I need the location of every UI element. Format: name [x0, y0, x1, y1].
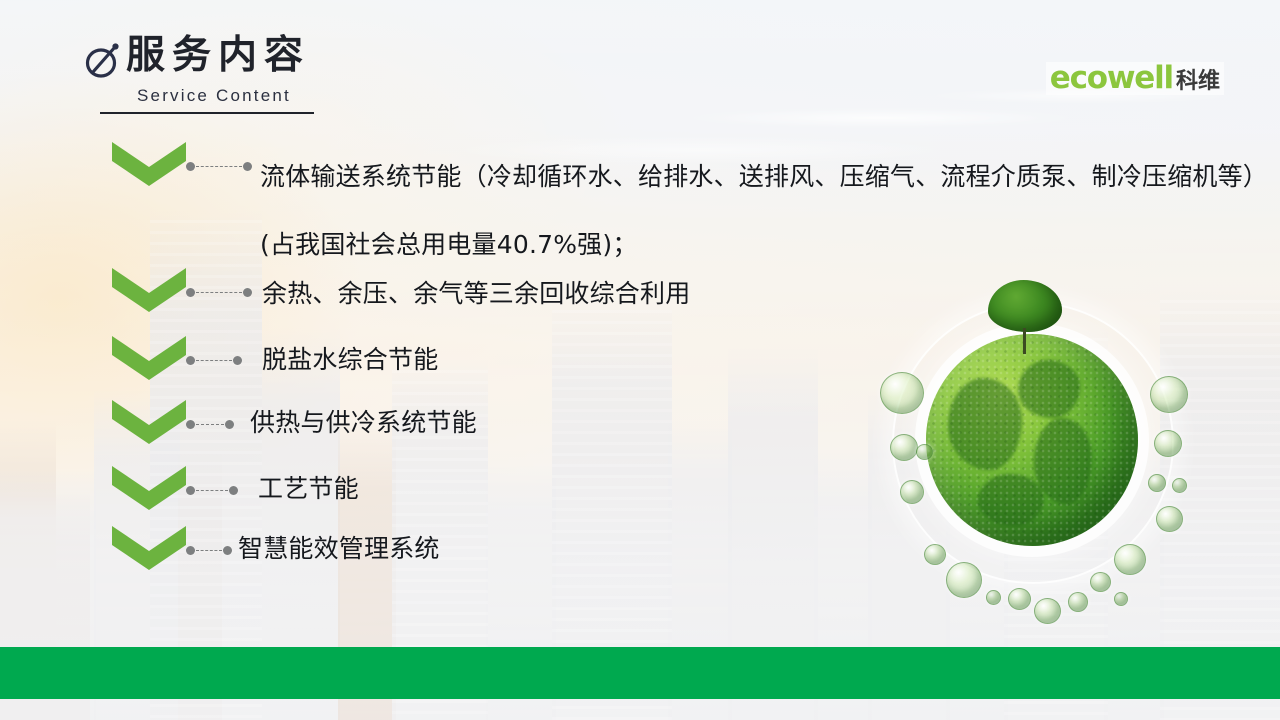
- water-droplet-icon: [916, 444, 933, 460]
- water-droplet-icon: [1148, 474, 1166, 492]
- water-droplet-icon: [900, 480, 924, 504]
- water-droplet-icon: [1150, 376, 1188, 413]
- list-item-label: 脱盐水综合节能: [262, 343, 438, 377]
- list-item-label: 工艺节能: [258, 472, 359, 506]
- water-droplet-icon: [1008, 588, 1031, 610]
- connector-line: [186, 419, 234, 429]
- list-item-label: 余热、余压、余气等三余回收综合利用: [262, 277, 690, 311]
- connector-line: [186, 355, 242, 365]
- water-droplet-icon: [1156, 506, 1183, 532]
- list-item-label: 智慧能效管理系统: [238, 532, 440, 566]
- slide-canvas: 服务内容 Service Content ecowell 科维 流体输送系统节能…: [0, 0, 1280, 720]
- green-chevron-down-icon: [112, 400, 186, 444]
- water-droplet-icon: [1114, 592, 1128, 606]
- green-globe-artwork: [862, 272, 1204, 634]
- green-chevron-down-icon: [112, 526, 186, 570]
- water-droplet-icon: [880, 372, 924, 414]
- green-chevron-down-icon: [112, 268, 186, 312]
- list-item-label: 流体输送系统节能（冷却循环水、给排水、送排风、压缩气、流程介质泵、制冷压缩机等）…: [260, 143, 1270, 279]
- water-droplet-icon: [890, 434, 918, 461]
- water-droplet-icon: [1034, 598, 1061, 624]
- connector-line: [186, 485, 238, 495]
- water-droplet-icon: [1090, 572, 1111, 592]
- footer-accent-bar: [0, 647, 1280, 699]
- green-chevron-down-icon: [112, 336, 186, 380]
- green-chevron-down-icon: [112, 466, 186, 510]
- connector-line: [186, 545, 232, 555]
- water-droplet-icon: [946, 562, 982, 598]
- tree-icon: [988, 280, 1062, 356]
- water-droplet-icon: [1154, 430, 1182, 457]
- list-item-label: 供热与供冷系统节能: [250, 406, 477, 440]
- water-droplet-icon: [1172, 478, 1187, 493]
- green-globe-icon: [926, 334, 1138, 546]
- connector-line: [186, 161, 252, 171]
- water-droplet-icon: [986, 590, 1001, 605]
- water-droplet-icon: [1114, 544, 1146, 575]
- green-chevron-down-icon: [112, 142, 186, 186]
- water-droplet-icon: [924, 544, 946, 565]
- water-droplet-icon: [1068, 592, 1088, 612]
- connector-line: [186, 287, 252, 297]
